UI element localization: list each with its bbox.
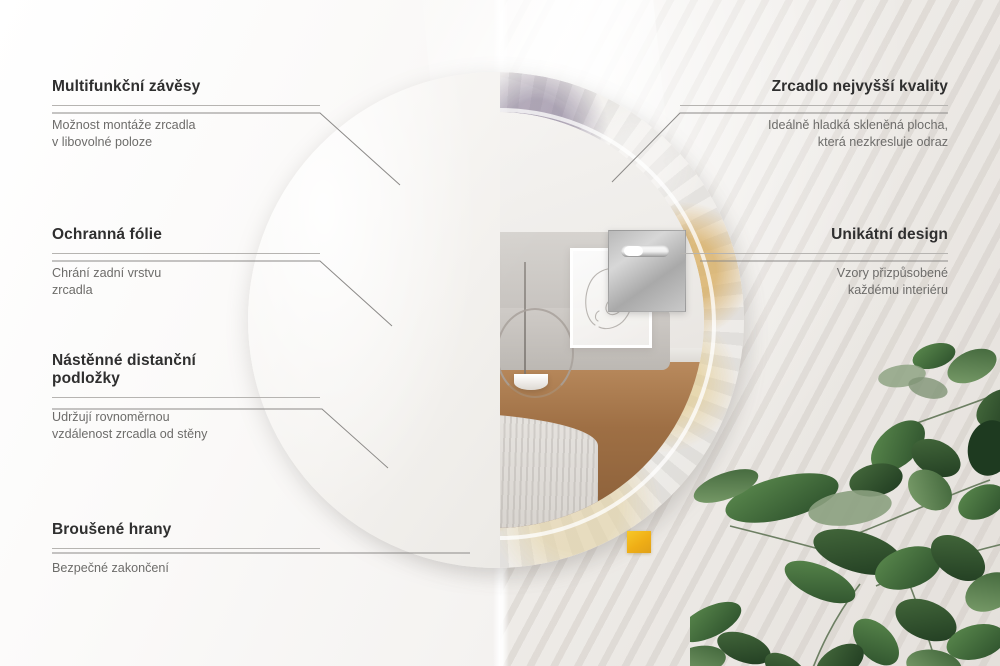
callout-title: Nástěnné distanční podložky bbox=[52, 352, 320, 388]
product-mirror bbox=[248, 72, 744, 568]
callout-description: Bezpečné zakončení bbox=[52, 560, 320, 577]
foliage-foreground bbox=[690, 330, 1000, 666]
callout-rule bbox=[680, 105, 948, 106]
reflected-lamp-bulb bbox=[514, 374, 548, 390]
spacer-pad bbox=[627, 531, 651, 553]
callout-zrcadlo-nejvyssi-kvality: Zrcadlo nejvyšší kvality Ideálně hladká … bbox=[680, 78, 948, 151]
callout-title: Unikátní design bbox=[680, 226, 948, 244]
callout-ochranna-folie: Ochranná fólie Chrání zadní vrstvu zrcad… bbox=[52, 226, 320, 299]
callout-description: Vzory přizpůsobené každému interiéru bbox=[680, 265, 948, 299]
callout-title: Broušené hrany bbox=[52, 521, 320, 539]
callout-description: Udržují rovnoměrnou vzdálenost zrcadla o… bbox=[52, 409, 320, 443]
callout-multifunkcni-zavesy: Multifunkční závěsy Možnost montáže zrca… bbox=[52, 78, 320, 151]
callout-rule bbox=[52, 105, 320, 106]
callout-rule bbox=[52, 253, 320, 254]
callout-title: Ochranná fólie bbox=[52, 226, 320, 244]
callout-title: Zrcadlo nejvyšší kvality bbox=[680, 78, 948, 96]
mirror-disc bbox=[248, 72, 744, 568]
callout-description: Možnost montáže zrcadla v libovolné polo… bbox=[52, 117, 320, 151]
callout-description: Chrání zadní vrstvu zrcadla bbox=[52, 265, 320, 299]
callout-title: Multifunkční závěsy bbox=[52, 78, 320, 96]
callout-rule bbox=[52, 397, 320, 398]
hanging-bracket bbox=[608, 230, 686, 312]
callout-unikatni-design: Unikátní design Vzory přizpůsobené každé… bbox=[680, 226, 948, 299]
callout-rule bbox=[52, 548, 320, 549]
bracket-slot-hole bbox=[624, 246, 643, 256]
infographic-canvas: Multifunkční závěsy Možnost montáže zrca… bbox=[0, 0, 1000, 666]
callout-rule bbox=[680, 253, 948, 254]
callout-brousene-hrany: Broušené hrany Bezpečné zakončení bbox=[52, 521, 320, 577]
callout-description: Ideálně hladká skleněná plocha, která ne… bbox=[680, 117, 948, 151]
callout-nastenne-distancni-podlozky: Nástěnné distanční podložky Udržují rovn… bbox=[52, 352, 320, 443]
